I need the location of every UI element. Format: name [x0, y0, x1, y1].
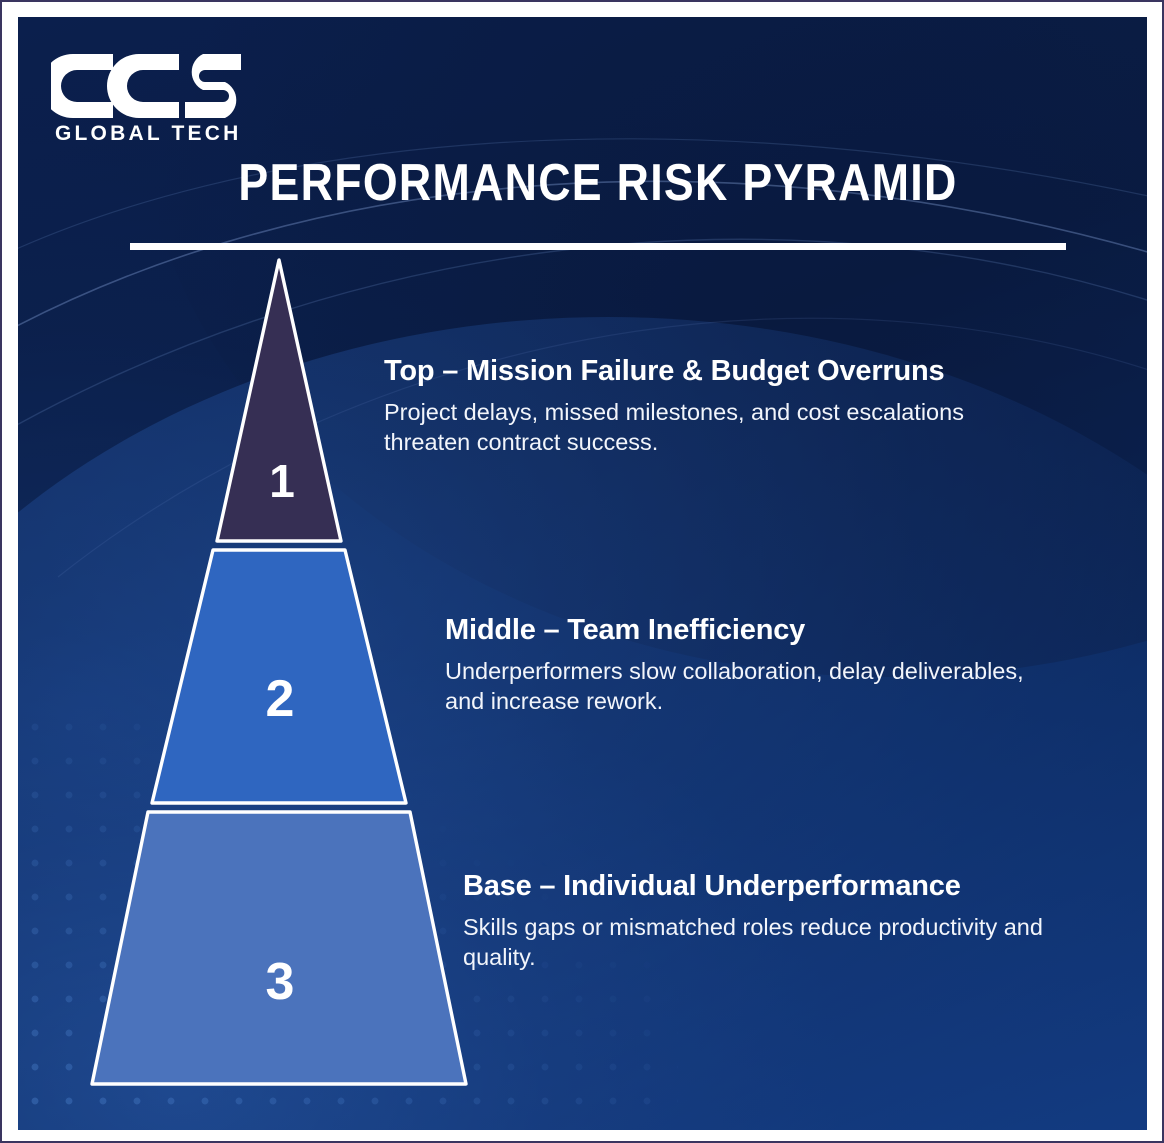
title-underline-rule — [130, 243, 1066, 250]
tier-2-text-block: Middle – Team Inefficiency Underperforme… — [445, 614, 1045, 716]
tier-1-text-block: Top – Mission Failure & Budget Overruns … — [384, 355, 1044, 457]
tier-2-heading: Middle – Team Inefficiency — [445, 614, 1045, 647]
brand-logo: GLOBAL TECH — [51, 50, 281, 150]
pyramid-tier-2-number: 2 — [266, 670, 295, 728]
pyramid-tier-1[interactable]: 1 — [217, 260, 341, 541]
tier-3-text-block: Base – Individual Underperformance Skill… — [463, 870, 1078, 972]
pyramid-tier-3[interactable]: 3 — [92, 812, 466, 1084]
tier-3-heading: Base – Individual Underperformance — [463, 870, 1078, 903]
page-title: Performance Risk Pyramid — [196, 153, 1001, 213]
poster-frame: GLOBAL TECH Performance Risk Pyramid 1 2… — [0, 0, 1164, 1143]
tier-2-description: Underperformers slow collaboration, dela… — [445, 656, 1045, 716]
pyramid-tier-2[interactable]: 2 — [152, 550, 406, 803]
ccs-logomark-icon — [51, 50, 241, 122]
pyramid-tier-1-number: 1 — [269, 455, 295, 507]
tier-1-description: Project delays, missed milestones, and c… — [384, 397, 1044, 457]
background-arc-dark — [138, 17, 1147, 677]
tier-3-description: Skills gaps or mismatched roles reduce p… — [463, 912, 1078, 972]
tier-1-heading: Top – Mission Failure & Budget Overruns — [384, 355, 1044, 388]
brand-tagline: GLOBAL TECH — [55, 122, 241, 146]
poster-canvas: GLOBAL TECH Performance Risk Pyramid 1 2… — [18, 17, 1147, 1130]
pyramid-tier-3-number: 3 — [266, 953, 295, 1011]
